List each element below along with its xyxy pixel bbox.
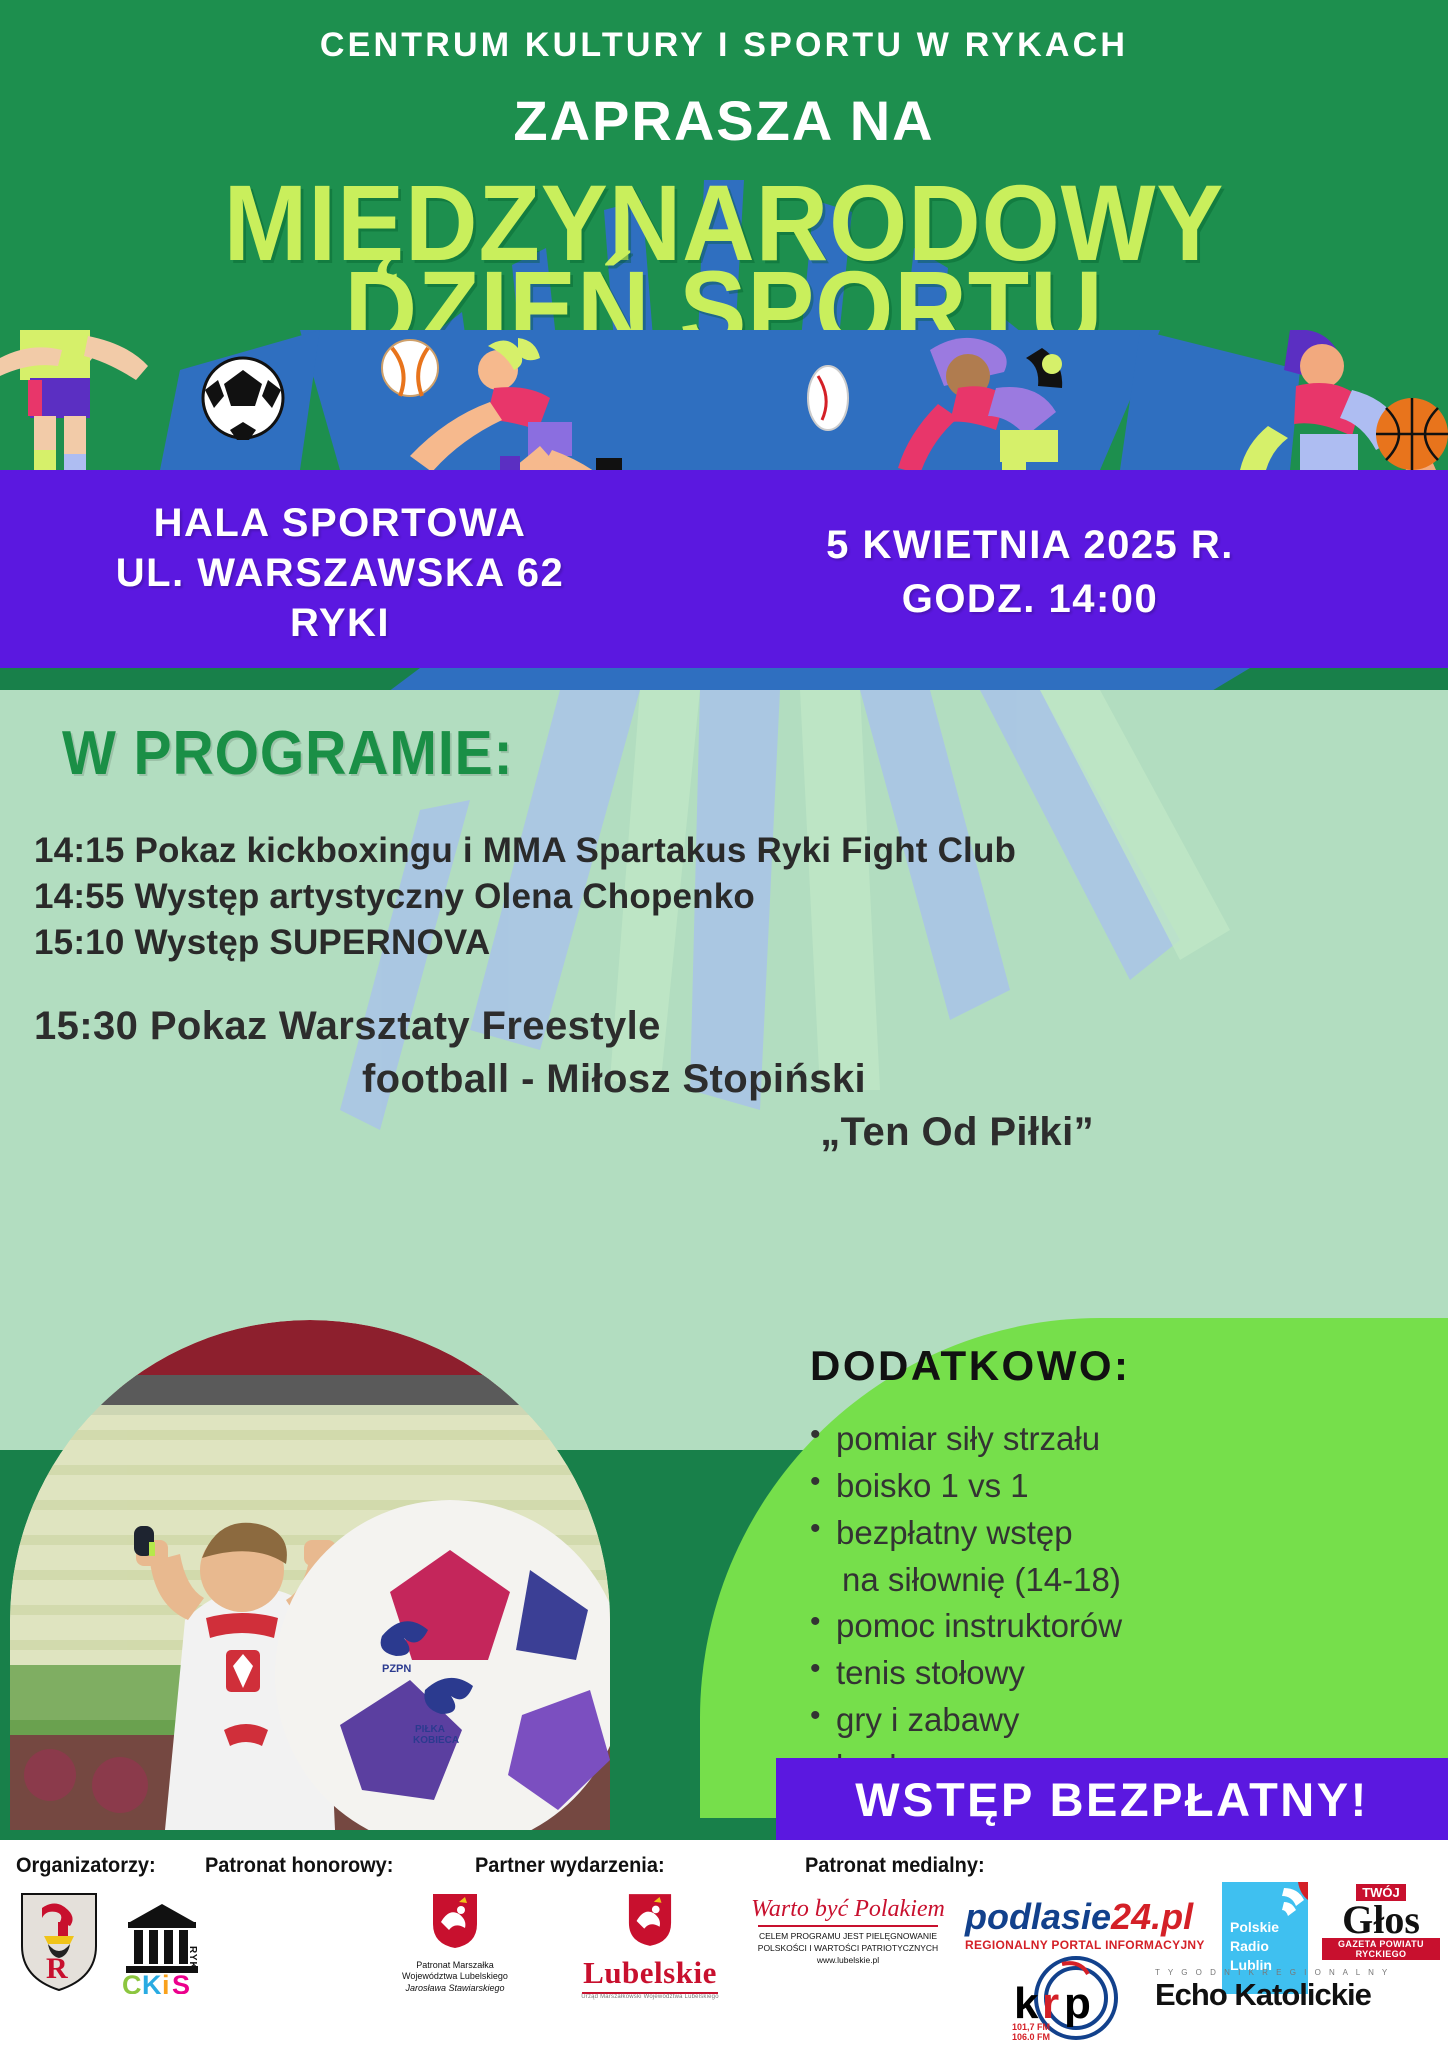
extras-heading: DODATKOWO:: [810, 1342, 1131, 1390]
event-date: 5 KWIETNIA 2025 R.: [640, 518, 1420, 572]
featured-line-3: „Ten Od Piłki”: [34, 1106, 1134, 1159]
schedule-item: 14:15 Pokaz kickboxingu i MMA Spartakus …: [34, 828, 1424, 874]
podlasie-word-b: 24.pl: [1111, 1896, 1193, 1937]
featured-line-1: 15:30 Pokaz Warsztaty Freestyle: [34, 1000, 1134, 1053]
logo-ryki-coat-of-arms: R: [18, 1892, 100, 1997]
extras-item: gry i zabawy: [810, 1697, 1448, 1744]
footer-label-partner: Partner wydarzenia:: [475, 1854, 665, 1878]
footer-label-honorary: Patronat honorowy:: [205, 1854, 393, 1878]
free-entry-label: WSTĘP BEZPŁATNY!: [776, 1758, 1448, 1842]
warto-sub-1: CELEM PROGRAMU JEST PIELĘGNOWANIE: [748, 1931, 948, 1943]
svg-text:PZPN: PZPN: [382, 1663, 411, 1675]
program-schedule-list: 14:15 Pokaz kickboxingu i MMA Spartakus …: [34, 828, 1424, 967]
program-featured-item: 15:30 Pokaz Warsztaty Freestyle football…: [34, 1000, 1134, 1160]
footer-label-organizers: Organizatorzy:: [16, 1854, 156, 1878]
footer-labels: Organizatorzy: Patronat honorowy: Partne…: [0, 1854, 1448, 1884]
ckis-ryki-sidetext: RYKI: [187, 1946, 198, 1974]
venue-line-3: RYKI: [40, 598, 640, 648]
extras-item: boisko 1 vs 1: [810, 1463, 1448, 1510]
krp-fm-line-2: 106,0 FM: [1012, 2032, 1050, 2040]
marshal-line-1: Patronat Marszałka: [330, 1960, 580, 1971]
athlete-footballer: [0, 330, 148, 470]
schedule-item: 14:55 Występ artystyczny Olena Chopenko: [34, 874, 1424, 920]
schedule-item: 15:10 Występ SUPERNOVA: [34, 920, 1424, 966]
logo-warto-byc-polakiem: Warto być Polakiem CELEM PROGRAMU JEST P…: [748, 1896, 948, 1967]
svg-text:C: C: [122, 1970, 141, 1994]
logo-twoj-glos: TWÓJ Głos GAZETA POWIATU RYCKIEGO: [1322, 1884, 1440, 1960]
venue-block: HALA SPORTOWA UL. WARSZAWSKA 62 RYKI: [40, 498, 640, 648]
organizer-line: CENTRUM KULTURY I SPORTU W RYKACH: [0, 26, 1448, 65]
venue-line-1: HALA SPORTOWA: [40, 498, 640, 548]
lubelskie-subtext: Urząd Marszałkowski Województwa Lubelski…: [560, 1994, 740, 2000]
warto-url: www.lubelskie.pl: [748, 1955, 948, 1967]
radio-line-2: Radio: [1230, 1937, 1279, 1956]
marshal-line-2: Województwa Lubelskiego: [330, 1971, 580, 1982]
invite-line: ZAPRASZA NA: [0, 88, 1448, 153]
extras-item: tenis stołowy: [810, 1650, 1448, 1697]
featured-line-2: football - Miłosz Stopiński: [34, 1053, 1134, 1106]
logo-podlasie24: podlasie24.pl REGIONALNY PORTAL INFORMAC…: [965, 1896, 1205, 1952]
logo-echo-katolickie: T Y G O D N I K R E G I O N A L N Y Echo…: [1155, 1968, 1390, 2013]
svg-text:S: S: [172, 1970, 190, 1994]
free-entry-banner: WSTĘP BEZPŁATNY!: [776, 1758, 1448, 1842]
hero-section: CENTRUM KULTURY I SPORTU W RYKACH ZAPRAS…: [0, 0, 1448, 470]
lubelskie-shield-icon: [431, 1892, 479, 1950]
svg-text:KOBIECA: KOBIECA: [413, 1735, 459, 1746]
krp-fm-line-1: 101,7 FM: [1012, 2022, 1050, 2032]
svg-text:i: i: [162, 1970, 169, 1994]
warto-sub-2: POLSKOŚCI I WARTOŚCI PATRIOTYCZNYCH: [748, 1943, 948, 1955]
volleyball-icon: [382, 340, 438, 396]
svg-text:r: r: [1042, 1979, 1059, 2028]
svg-text:p: p: [1064, 1979, 1090, 2028]
glos-subtitle: GAZETA POWIATU RYCKIEGO: [1322, 1938, 1440, 1960]
logo-ckis-ryki: C K i S RYKI: [118, 1902, 214, 1999]
extras-item: pomiar siły strzału: [810, 1416, 1448, 1463]
event-time: GODZ. 14:00: [640, 572, 1420, 626]
glos-wordmark: Głos: [1322, 1902, 1440, 1938]
datetime-block: 5 KWIETNIA 2025 R. GODZ. 14:00: [640, 518, 1420, 626]
podlasie-subtitle: REGIONALNY PORTAL INFORMACYJNY: [965, 1938, 1205, 1952]
footer-label-media: Patronat medialny:: [805, 1854, 985, 1878]
ryki-monogram: R: [46, 1952, 68, 1985]
program-heading: W PROGRAMIE:: [62, 718, 513, 789]
extras-list: pomiar siły strzału boisko 1 vs 1 bezpła…: [770, 1416, 1448, 1791]
logo-krp-radio: k r p 101,7 FM 106,0 FM: [1010, 1956, 1122, 2045]
rugby-ball-icon: [808, 366, 848, 430]
athletes-illustration: [0, 330, 1448, 470]
venue-line-2: UL. WARSZAWSKA 62: [40, 548, 640, 598]
podlasie-word-a: podlasie: [965, 1896, 1111, 1937]
lubelskie-shield-icon-2: [627, 1892, 673, 1948]
echo-tagline: T Y G O D N I K R E G I O N A L N Y: [1155, 1968, 1390, 1977]
radio-line-1: Polskie: [1230, 1918, 1279, 1937]
svg-text:K: K: [142, 1970, 162, 1994]
warto-wordmark: Warto być Polakiem: [748, 1896, 948, 1923]
lubelskie-wordmark: Lubelskie: [560, 1955, 740, 1991]
footer-section: Organizatorzy: Patronat honorowy: Partne…: [0, 1840, 1448, 2048]
poster-root: CENTRUM KULTURY I SPORTU W RYKACH ZAPRAS…: [0, 0, 1448, 2048]
extras-item: pomoc instruktorów: [810, 1603, 1448, 1650]
logo-lubelskie: Lubelskie Urząd Marszałkowski Województw…: [560, 1892, 740, 2000]
logo-marshal-patronage: Patronat Marszałka Województwa Lubelskie…: [330, 1892, 580, 1994]
echo-wordmark: Echo Katolickie: [1155, 1977, 1390, 2013]
extras-item: bezpłatny wstępna siłownię (14-18): [810, 1510, 1448, 1604]
details-band: HALA SPORTOWA UL. WARSZAWSKA 62 RYKI 5 K…: [0, 470, 1448, 668]
marshal-line-3: Jarosława Stawiarskiego: [330, 1983, 580, 1994]
svg-text:k: k: [1014, 1979, 1039, 2028]
svg-text:PIŁKA: PIŁKA: [415, 1724, 445, 1735]
